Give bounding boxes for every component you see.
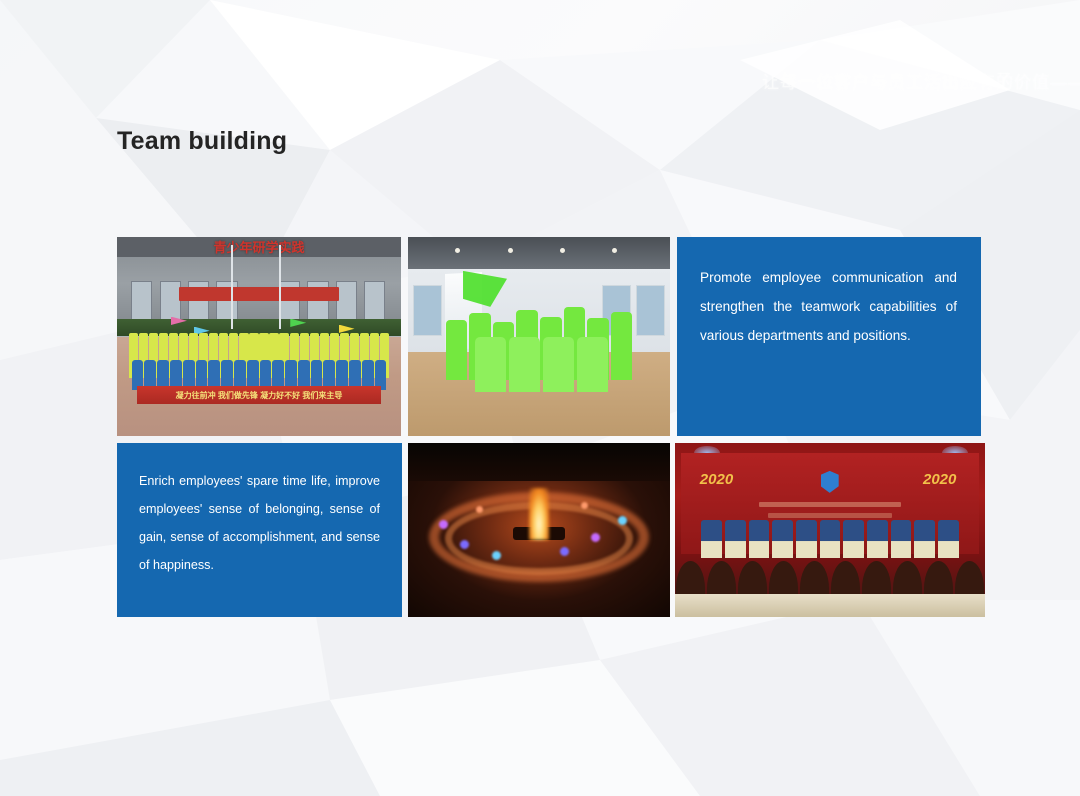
page-title: Team building <box>117 126 287 156</box>
content-grid: 青少年研学实践 <box>117 237 981 617</box>
year-left: 2020 <box>700 471 733 488</box>
wall-banner <box>179 287 338 301</box>
photo-award-ceremony: 2020 2020 <box>675 443 985 617</box>
glow-stick <box>439 520 448 529</box>
photo-group-outdoor: 青少年研学实践 <box>117 237 401 436</box>
glow-stick <box>618 516 627 525</box>
ceiling-region <box>408 237 670 269</box>
watermark-text: 让每一位客户与员工活出应有的价值—— <box>762 68 1080 93</box>
text-panel-happiness: Enrich employees' spare time life, impro… <box>117 443 402 617</box>
photo-group-indoor-image <box>408 237 670 436</box>
photo-award-ceremony-image: 2020 2020 <box>675 443 985 617</box>
text-panel-communication-body: Promote employee communication and stren… <box>700 263 957 350</box>
photo-group-indoor <box>408 237 670 436</box>
watermark-mark: 了 <box>996 66 1012 90</box>
photo-bonfire <box>408 443 670 617</box>
glow-stick <box>476 506 483 513</box>
text-panel-communication: Promote employee communication and stren… <box>677 237 981 436</box>
display-board <box>636 285 665 337</box>
flag-pole <box>279 245 281 329</box>
top-signage-band: 青少年研学实践 <box>117 237 401 257</box>
display-board <box>413 285 442 337</box>
backdrop-headline <box>759 502 902 507</box>
bonfire-flame <box>529 488 550 540</box>
backdrop-subline <box>768 513 892 518</box>
flag-pole <box>231 245 233 329</box>
year-right: 2020 <box>923 471 956 488</box>
slide-canvas: 让每一位客户与员工活出应有的价值—— 了 Team building 青少年研学… <box>0 0 1080 796</box>
banquet-table <box>675 594 985 617</box>
glow-stick <box>581 502 588 509</box>
text-panel-happiness-body: Enrich employees' spare time life, impro… <box>139 467 380 579</box>
photo-bonfire-image <box>408 443 670 617</box>
signage-text: 青少年研学实践 <box>117 237 401 257</box>
night-sky <box>408 443 670 481</box>
red-banner: 凝力往前冲 我们做先锋 凝力好不好 我们来主导 <box>137 386 381 404</box>
photo-group-outdoor-image: 青少年研学实践 <box>117 237 401 436</box>
glow-stick <box>492 551 501 560</box>
crouching-group <box>474 337 610 393</box>
